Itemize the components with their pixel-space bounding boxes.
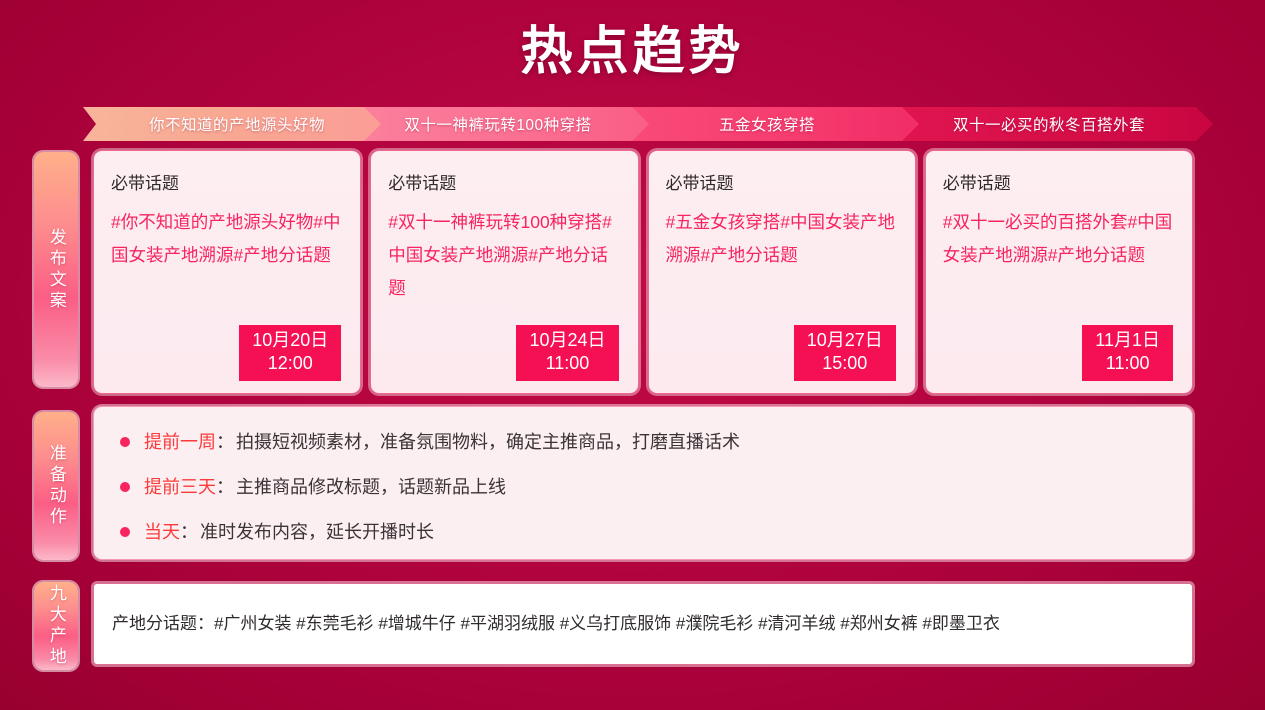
prep-action-item: 提前三天 ： 主推商品修改标题，话题新品上线 [116,474,1172,500]
topic-card-date-badge: 10月24日 11:00 [516,325,618,381]
section-label-prep-actions-text: 准备动作 [47,444,65,528]
section-label-nine-origins: 九大产地 [34,582,78,670]
prep-action-value: 准时发布内容，延长开播时长 [200,519,434,545]
topic-card-heading: 必带话题 [388,173,620,195]
prep-action-value: 拍摄短视频素材，准备氛围物料，确定主推商品，打磨直播话术 [236,429,740,455]
topic-card-tags: #你不知道的产地源头好物#中国女装产地溯源#产地分话题 [111,206,343,272]
chevron-right-icon [364,107,381,141]
tab-trend-3-label: 五金女孩穿搭 [719,113,815,135]
topic-card-tags: #五金女孩穿搭#中国女装产地溯源#产地分话题 [666,206,898,272]
origins-panel: 产地分话题：#广州女装 #东莞毛衫 #增城牛仔 #平湖羽绒服 #义乌打底服饰 #… [93,583,1193,665]
section-label-publish-copy-text: 发布文案 [47,228,65,312]
chevron-right-icon [632,107,649,141]
topic-card-tags: #双十一必买的百搭外套#中国女装产地溯源#产地分话题 [943,206,1175,272]
prep-actions-panel: 提前一周 ： 拍摄短视频素材，准备氛围物料，确定主推商品，打磨直播话术 提前三天… [93,406,1193,560]
topic-card-date-badge: 10月20日 12:00 [239,325,341,381]
section-label-publish-copy: 发布文案 [34,152,78,387]
prep-action-key: 提前一周 [144,429,216,455]
tab-trend-2-label: 双十一神裤玩转100种穿搭 [404,113,591,135]
section-label-nine-origins-text: 九大产地 [47,584,65,668]
topic-card-heading: 必带话题 [943,173,1175,195]
topic-card-date-badge: 10月27日 15:00 [794,325,896,381]
topic-card-tags: #双十一神裤玩转100种穿搭#中国女装产地溯源#产地分话题 [388,206,620,305]
prep-action-key: 提前三天 [144,474,216,500]
topic-card[interactable]: 必带话题 #双十一神裤玩转100种穿搭#中国女装产地溯源#产地分话题 10月24… [370,150,638,394]
bullet-dot-icon [120,437,130,447]
prep-action-colon: ： [180,519,198,545]
bullet-dot-icon [120,527,130,537]
tab-trend-2[interactable]: 双十一神裤玩转100种穿搭 [364,107,632,141]
prep-action-item: 当天 ： 准时发布内容，延长开播时长 [116,519,1172,545]
prep-action-item: 提前一周 ： 拍摄短视频素材，准备氛围物料，确定主推商品，打磨直播话术 [116,429,1172,455]
prep-action-colon: ： [216,474,234,500]
chevron-right-icon [902,107,919,141]
prep-action-key: 当天 [144,519,180,545]
slide-root: 热点趋势 你不知道的产地源头好物 双十一神裤玩转100种穿搭 五金女孩穿搭 [0,0,1265,710]
bullet-dot-icon [120,482,130,492]
section-label-prep-actions: 准备动作 [34,412,78,560]
topic-card-row: 必带话题 #你不知道的产地源头好物#中国女装产地溯源#产地分话题 10月20日 … [93,150,1193,394]
tab-trend-4-label: 双十一必买的秋冬百搭外套 [953,113,1145,135]
topic-card-date-badge: 11月1日 11:00 [1082,325,1173,381]
chevron-right-icon [1196,107,1213,141]
tab-trend-1-label: 你不知道的产地源头好物 [149,113,325,135]
tab-trend-3[interactable]: 五金女孩穿搭 [632,107,902,141]
tab-trend-1[interactable]: 你不知道的产地源头好物 [96,107,364,141]
origins-text: 产地分话题：#广州女装 #东莞毛衫 #增城牛仔 #平湖羽绒服 #义乌打底服饰 #… [112,611,1000,637]
page-title: 热点趋势 [0,22,1265,82]
topic-card-heading: 必带话题 [666,173,898,195]
topic-card[interactable]: 必带话题 #五金女孩穿搭#中国女装产地溯源#产地分话题 10月27日 15:00 [648,150,916,394]
ribbon-lead-icon [83,107,97,141]
prep-action-colon: ： [216,429,234,455]
topic-card[interactable]: 必带话题 #双十一必买的百搭外套#中国女装产地溯源#产地分话题 11月1日 11… [925,150,1193,394]
topic-card-heading: 必带话题 [111,173,343,195]
prep-action-value: 主推商品修改标题，话题新品上线 [236,474,506,500]
trend-tab-strip: 你不知道的产地源头好物 双十一神裤玩转100种穿搭 五金女孩穿搭 双十一必买的秋… [96,107,1196,141]
topic-card[interactable]: 必带话题 #你不知道的产地源头好物#中国女装产地溯源#产地分话题 10月20日 … [93,150,361,394]
tab-trend-4[interactable]: 双十一必买的秋冬百搭外套 [902,107,1196,141]
